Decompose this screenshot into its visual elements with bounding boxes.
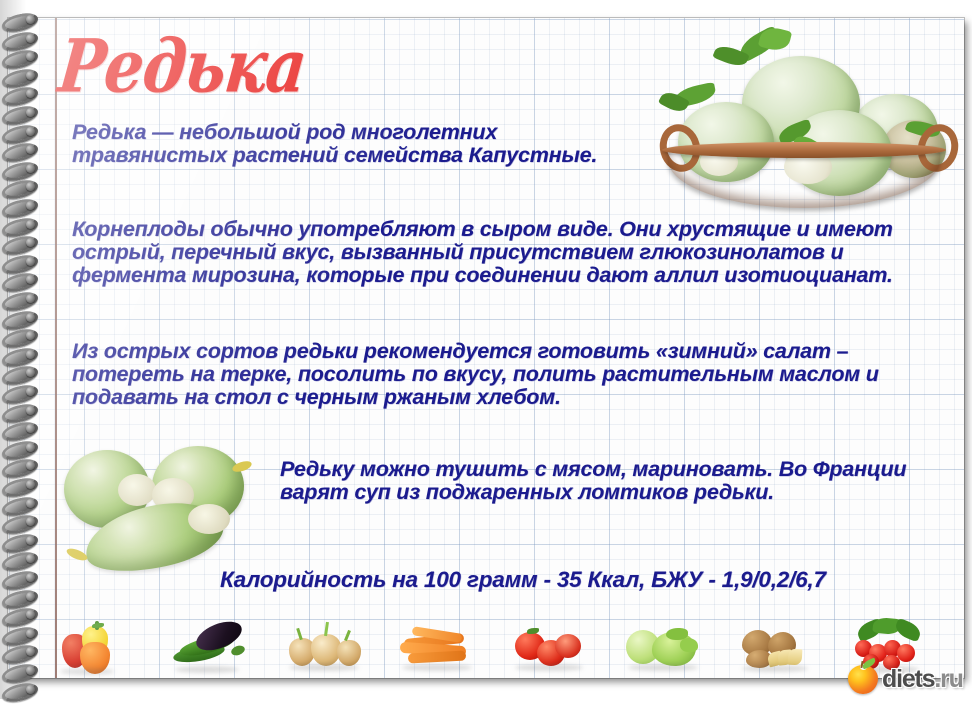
veg-cucumbers-eggplant — [171, 618, 278, 676]
coil-knob — [26, 387, 35, 396]
coil-knob — [26, 592, 35, 601]
spiral-coil — [0, 460, 38, 473]
calories-line: Калорийность на 100 грамм - 35 Ккал, БЖУ… — [220, 568, 826, 593]
spiral-coil — [0, 88, 38, 101]
spiral-coil — [0, 144, 38, 157]
spiral-coil — [0, 498, 38, 511]
notebook-page: Редька Редька — небольшой род многолетни… — [8, 18, 964, 678]
spiral-coil — [0, 33, 38, 46]
spiral-coil — [0, 312, 38, 325]
watermark-logo[interactable]: diets.ru — [848, 660, 972, 698]
page-title: Редька — [55, 30, 309, 103]
spiral-coil — [0, 200, 38, 213]
spiral-coil — [0, 665, 38, 678]
coil-knob — [26, 536, 35, 545]
coil-knob — [26, 313, 35, 322]
radish-tip — [118, 474, 156, 506]
spiral-coil — [0, 14, 38, 27]
spiral-coil — [0, 553, 38, 566]
watermark-tld: .ru — [934, 665, 962, 693]
veg-potatoes — [738, 618, 845, 676]
paragraph-salad: Из острых сортов редьки рекомендуется го… — [72, 340, 952, 409]
coil-knob — [26, 629, 35, 638]
radish-root — [65, 546, 89, 563]
radish-trio-image — [56, 438, 276, 578]
coil-knob — [26, 499, 35, 508]
spiral-coil — [0, 330, 38, 343]
coil-knob — [26, 201, 35, 210]
vegetable-strip — [58, 614, 958, 676]
spiral-coil — [0, 386, 38, 399]
spiral-coil — [0, 442, 38, 455]
coil-knob — [26, 685, 35, 694]
spiral-coil — [0, 237, 38, 250]
paragraph-cooking: Редьку можно тушить с мясом, мариновать.… — [280, 458, 960, 504]
paragraph-raw-use: Корнеплоды обычно употребляют в сыром ви… — [72, 218, 952, 287]
spiral-coil — [0, 219, 38, 232]
spiral-coil — [0, 535, 38, 548]
spiral-coil — [0, 591, 38, 604]
coil-knob — [26, 220, 35, 229]
veg-carrots — [398, 618, 505, 676]
spiral-coil — [0, 646, 38, 659]
coil-knob — [26, 350, 35, 359]
spiral-coil — [0, 293, 38, 306]
radish-basket-image — [656, 28, 964, 208]
spiral-coil — [0, 51, 38, 64]
watermark-brand: diets — [882, 665, 934, 693]
spiral-coil — [0, 126, 38, 139]
spiral-coil — [0, 107, 38, 120]
coil-knob — [26, 34, 35, 43]
spiral-coil — [0, 684, 38, 697]
watermark-text: diets.ru — [882, 665, 963, 694]
spiral-coil — [0, 572, 38, 585]
spiral-coil — [0, 70, 38, 83]
coil-knob — [26, 127, 35, 136]
radish-tip — [188, 504, 230, 534]
coil-knob — [26, 15, 35, 24]
coil-knob — [26, 443, 35, 452]
coil-knob — [26, 108, 35, 117]
coil-knob — [26, 164, 35, 173]
spiral-coil — [0, 256, 38, 269]
paragraph-intro: Редька — небольшой род многолетних травя… — [72, 121, 652, 167]
veg-tomatoes — [511, 618, 618, 676]
spiral-coil — [0, 628, 38, 641]
spiral-coil — [0, 405, 38, 418]
spiral-coil — [0, 423, 38, 436]
apple-icon — [848, 665, 878, 694]
spiral-coil — [0, 181, 38, 194]
spiral-coil — [0, 274, 38, 287]
spiral-coil — [0, 609, 38, 622]
veg-lettuce-cabbage — [624, 618, 731, 676]
veg-bell-peppers — [58, 618, 165, 676]
veg-onions — [285, 618, 392, 676]
basket-rim — [662, 142, 946, 158]
coil-knob — [26, 406, 35, 415]
coil-knob — [26, 573, 35, 582]
coil-knob — [26, 666, 35, 675]
coil-knob — [26, 480, 35, 489]
coil-knob — [26, 71, 35, 80]
page-content: Редька Редька — небольшой род многолетни… — [8, 18, 964, 678]
spiral-coil — [0, 163, 38, 176]
spiral-coil — [0, 367, 38, 380]
spiral-coil — [0, 349, 38, 362]
spiral-coil — [0, 516, 38, 529]
spiral-coil — [0, 479, 38, 492]
coil-knob — [26, 294, 35, 303]
spiral-binding — [0, 14, 40, 686]
coil-knob — [26, 257, 35, 266]
